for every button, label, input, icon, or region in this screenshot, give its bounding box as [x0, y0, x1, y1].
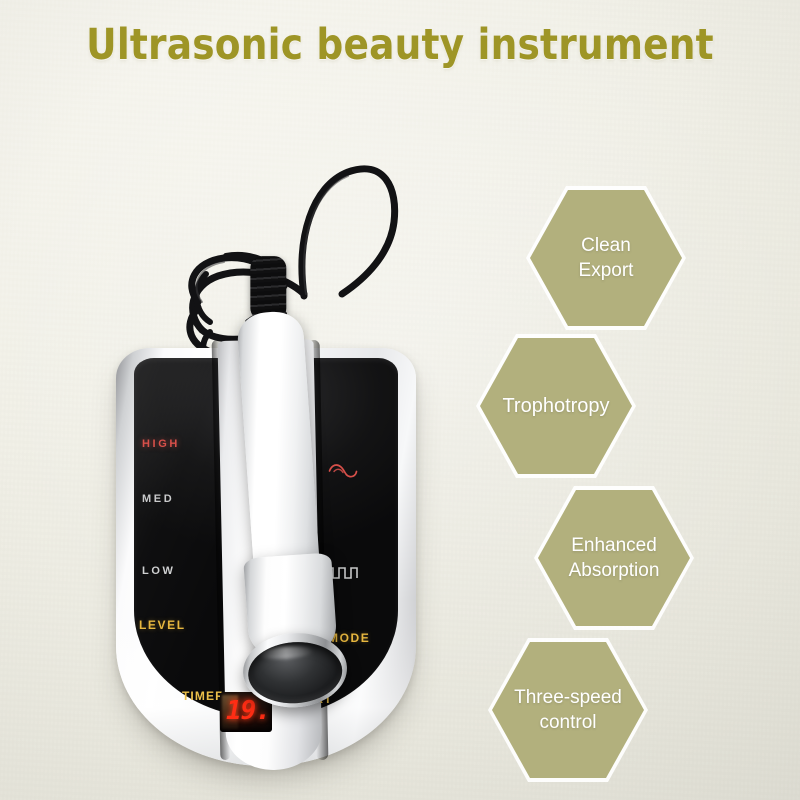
page-background: Ultrasonic beauty instrument	[0, 0, 800, 800]
level-button[interactable]: LEVEL	[139, 618, 186, 632]
level-indicator-low[interactable]: LOW	[142, 565, 175, 577]
feature-badges: Clean Export Trophotropy Enhanced Absorp…	[440, 150, 800, 800]
feature-label-line: Clean	[581, 235, 631, 256]
sine-wave-icon[interactable]	[328, 462, 358, 480]
level-indicator-high[interactable]: HIGH	[142, 438, 180, 450]
feature-label: Clean Export	[579, 233, 634, 283]
feature-label-line: Absorption	[569, 560, 660, 581]
feature-label-line: Three-speed	[514, 687, 622, 708]
cable-strain-relief	[250, 256, 286, 320]
feature-label-line: Trophotropy	[502, 395, 609, 417]
product-device: HIGH MED LOW LEVEL MODE TIMER START 19.	[98, 126, 438, 774]
timer-button[interactable]: TIMER	[182, 689, 225, 703]
feature-label: Three-speed control	[514, 685, 622, 735]
page-title: Ultrasonic beauty instrument	[12, 20, 788, 70]
feature-label: Enhanced Absorption	[569, 533, 660, 583]
feature-label-line: Enhanced	[571, 535, 657, 556]
feature-label-line: Export	[579, 260, 634, 281]
feature-label-line: control	[539, 712, 596, 733]
level-indicator-med[interactable]: MED	[142, 493, 174, 505]
feature-label: Trophotropy	[502, 393, 609, 419]
